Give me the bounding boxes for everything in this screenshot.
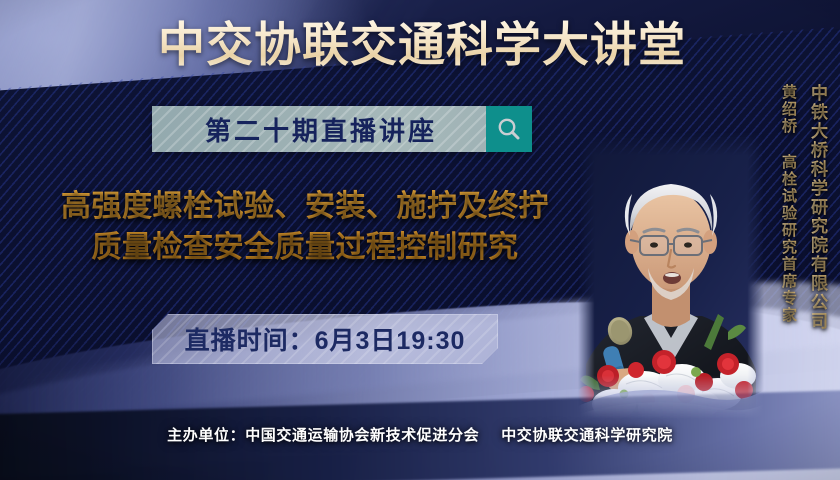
speaker-organization: 中铁大桥科学研究院有限公司 xyxy=(805,84,830,331)
subtitle-label: 第二十期直播讲座 xyxy=(201,111,437,148)
search-button[interactable] xyxy=(486,106,532,152)
speaker-credits: 黄绍桥 高栓试验研究首席专家 中铁大桥科学研究院有限公司 xyxy=(778,84,830,331)
speaker-photo xyxy=(578,132,764,422)
lecture-title: 高强度螺栓试验、安装、施拧及终拧 质量检查安全质量过程控制研究 xyxy=(8,186,602,269)
live-time-badge: 直播时间：6月3日19:30 xyxy=(152,314,498,364)
live-time-label: 直播时间：6月3日19:30 xyxy=(185,321,466,357)
search-icon xyxy=(496,116,522,142)
footer-prefix: 主办单位： xyxy=(167,427,245,444)
footer-organizers: 主办单位：中国交通运输协会新技术促进分会中交协联交通科学研究院 xyxy=(0,424,840,445)
speaker-name-and-role: 黄绍桥 高栓试验研究首席专家 xyxy=(778,84,799,324)
lecture-title-line-2: 质量检查安全质量过程控制研究 xyxy=(8,227,602,268)
lecture-title-line-1: 高强度螺栓试验、安装、施拧及终拧 xyxy=(61,190,549,223)
subtitle-bar: 第二十期直播讲座 xyxy=(152,106,532,152)
subtitle-bar-fill: 第二十期直播讲座 xyxy=(152,106,486,152)
footer-org-2: 中交协联交通科学研究院 xyxy=(501,427,673,444)
live-lecture-poster: 中交协联交通科学大讲堂 第二十期直播讲座 高强度螺栓试验、安装、施拧及终拧 质量… xyxy=(0,0,840,480)
footer-org-1: 中国交通运输协会新技术促进分会 xyxy=(245,427,479,444)
page-title: 中交协联交通科学大讲堂 xyxy=(116,20,728,71)
